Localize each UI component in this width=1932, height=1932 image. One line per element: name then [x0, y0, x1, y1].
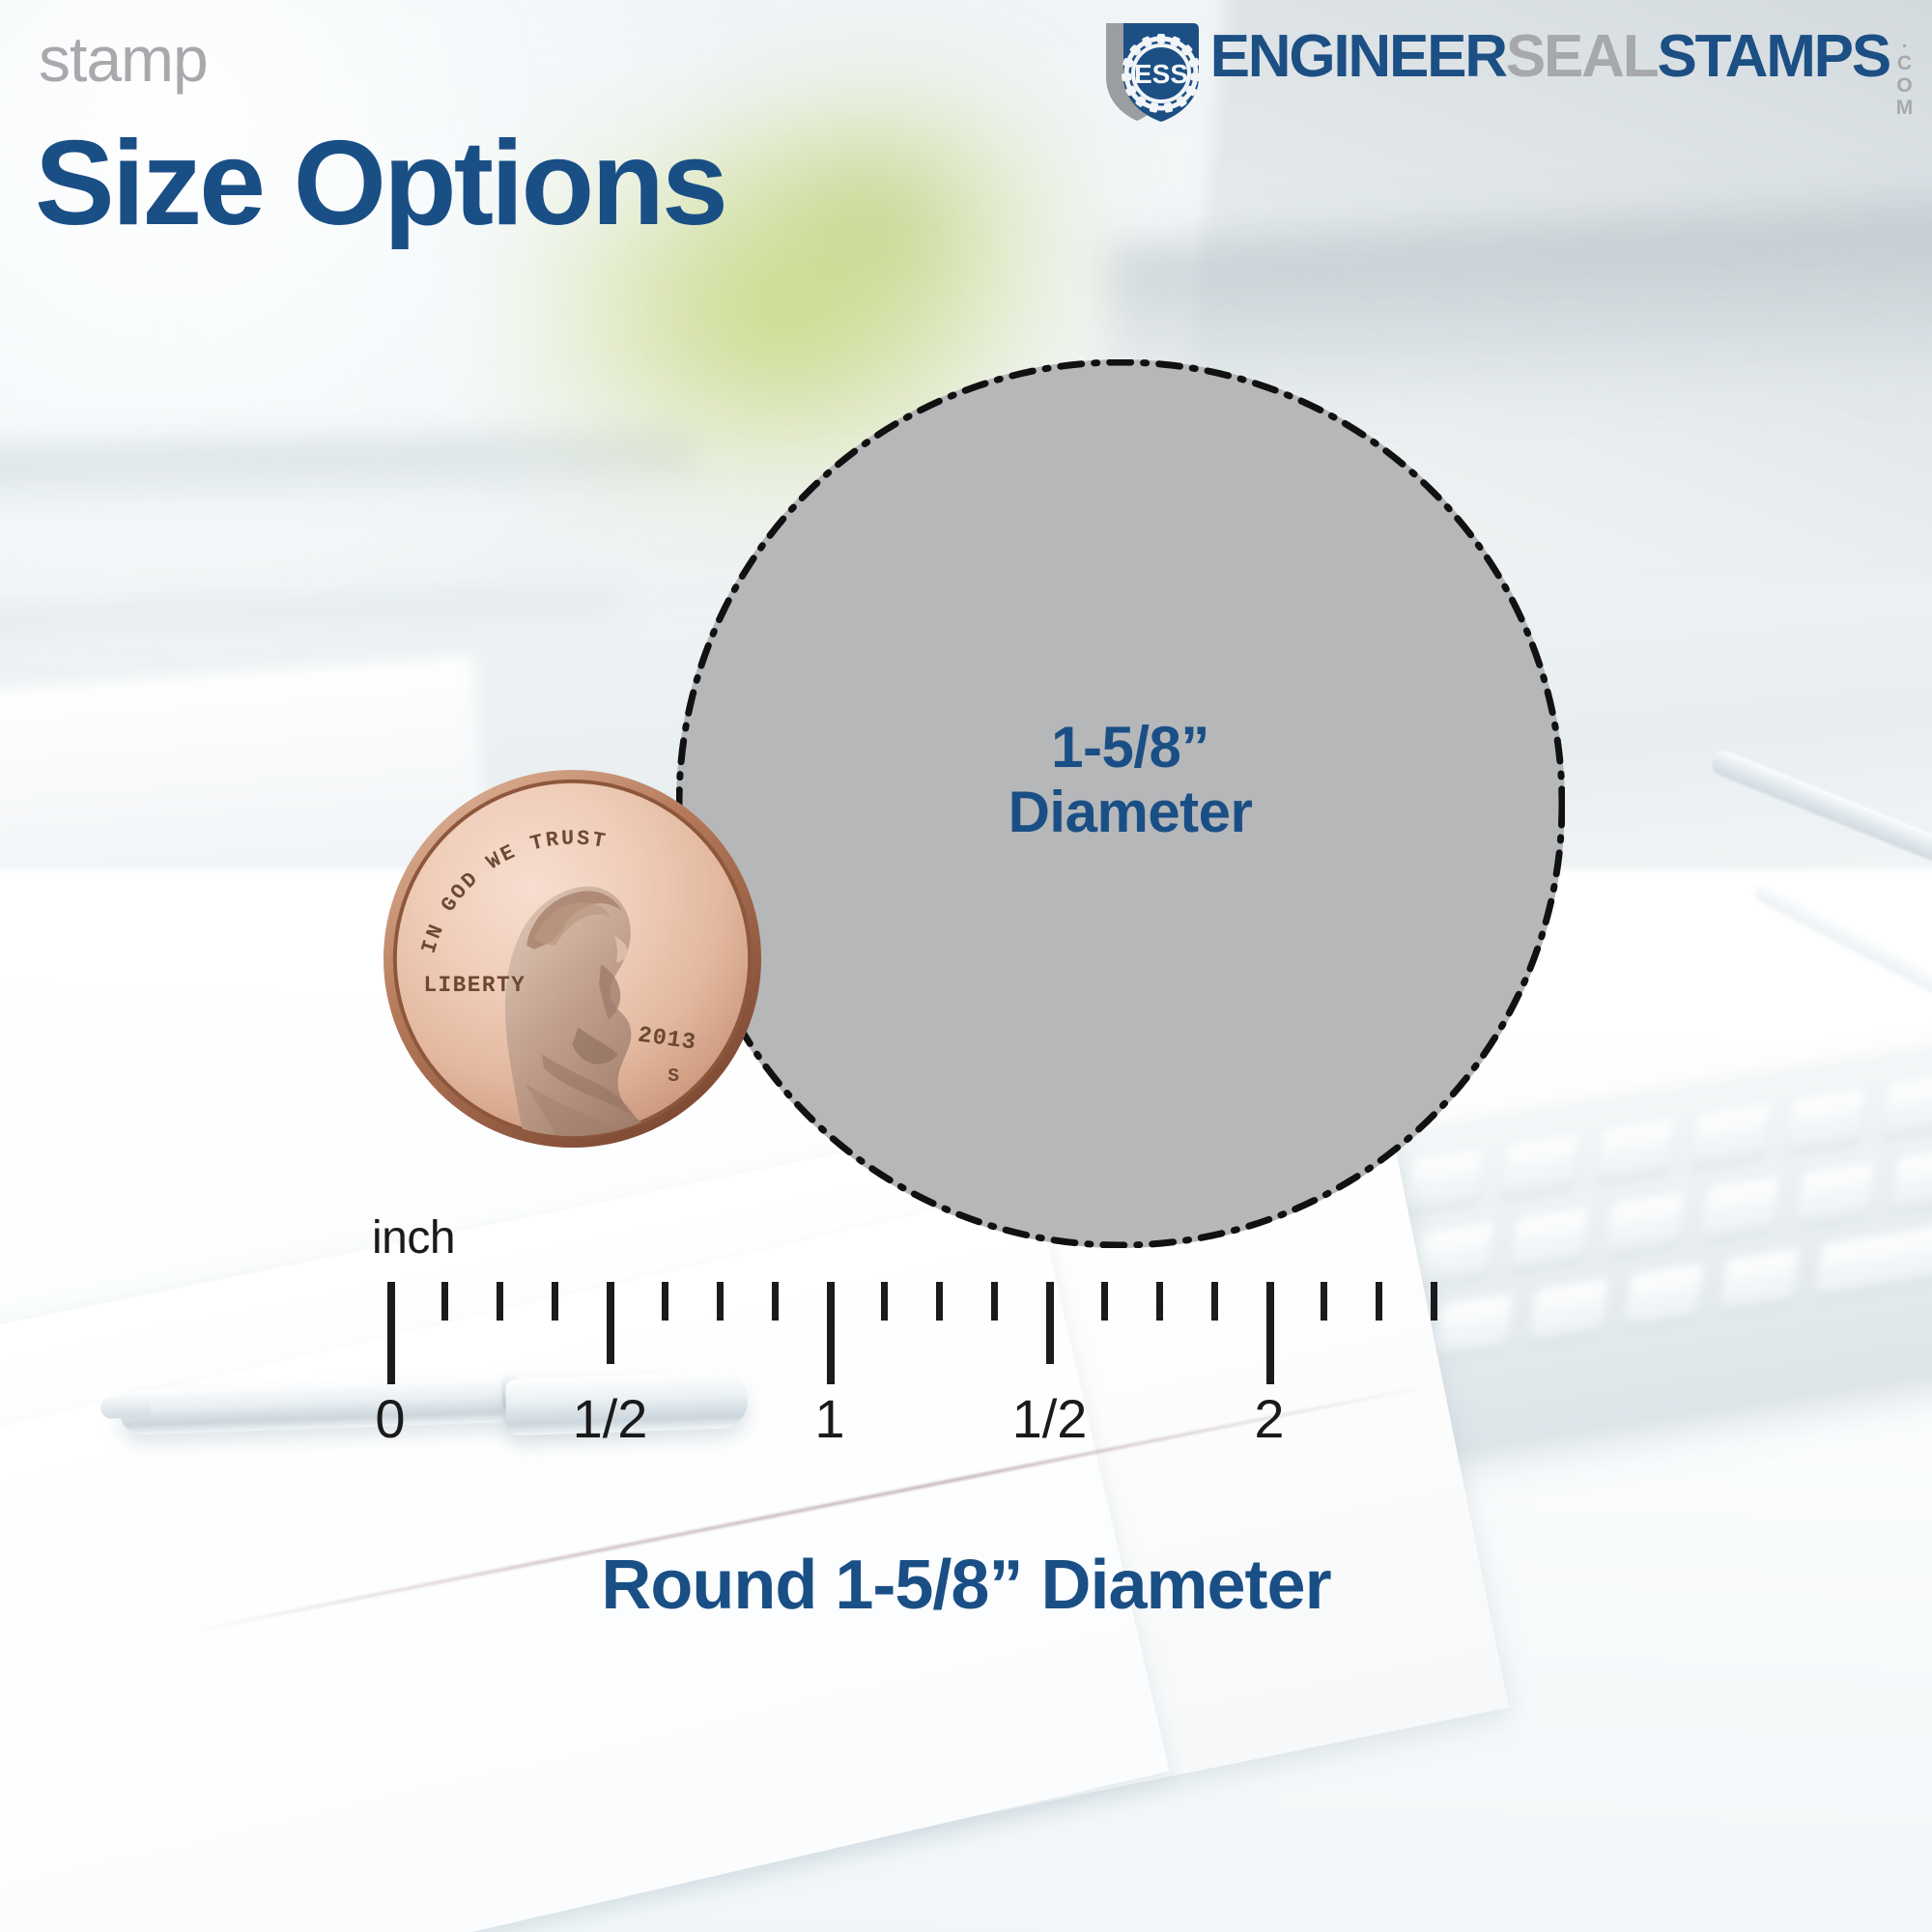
ruler-tick: [1211, 1282, 1218, 1321]
ruler-tick: [387, 1282, 395, 1384]
ess-shield-icon: ESS: [1098, 17, 1207, 126]
ruler-tick: [497, 1282, 503, 1321]
ruler-tick: [441, 1282, 448, 1321]
ruler-unit-label: inch: [372, 1211, 455, 1264]
size-preview-label-line2: Diameter: [908, 780, 1352, 844]
ruler-tick: [772, 1282, 779, 1321]
svg-text:ESS: ESS: [1134, 59, 1188, 89]
ruler-tick: [1046, 1282, 1054, 1364]
wordmark-stamps: STAMPS: [1657, 27, 1889, 87]
ruler-tick: [1321, 1282, 1327, 1321]
background-plant-highlight: [676, 58, 1082, 377]
ruler-label: 1: [814, 1387, 844, 1450]
ruler-tick: [662, 1282, 668, 1321]
ruler-tick: [717, 1282, 724, 1321]
size-caption: Round 1-5/8” Diameter: [0, 1546, 1932, 1625]
ruler-tick: [991, 1282, 998, 1321]
ruler-tick: [1156, 1282, 1163, 1321]
ruler-label: 1/2: [573, 1387, 648, 1450]
ruler: inch 01/211/22: [0, 1198, 1932, 1507]
ruler-tick: [1101, 1282, 1108, 1321]
page-title: Size Options: [35, 124, 725, 243]
wordmark-engineer: ENGINEER: [1210, 27, 1506, 87]
wordmark-com: .COM: [1894, 30, 1915, 119]
coin-liberty: LIBERTY: [423, 973, 526, 998]
ruler-label: 2: [1254, 1387, 1284, 1450]
ruler-tick: [552, 1282, 558, 1321]
size-options-graphic: stamp Size Options: [0, 0, 1932, 1932]
ruler-tick: [1266, 1282, 1274, 1384]
ruler-tick: [936, 1282, 943, 1321]
penny-coin: IN GOD WE TRUST LIBERTY 2013 S: [382, 768, 763, 1150]
coin-mint-mark: S: [668, 1065, 679, 1087]
eyebrow-label: stamp: [39, 27, 208, 91]
ruler-tick: [881, 1282, 888, 1321]
brand-wordmark: ENGINEERSEALSTAMPS.COM: [1210, 27, 1915, 116]
size-preview-label: 1-5/8” Diameter: [908, 715, 1352, 844]
ruler-label: 1/2: [1012, 1387, 1088, 1450]
ruler-tick: [827, 1282, 835, 1384]
ruler-tick: [607, 1282, 614, 1364]
brand-logo[interactable]: ESS ENGINEERSEALSTAMPS.COM: [1098, 17, 1915, 126]
ruler-tick: [1376, 1282, 1382, 1321]
ruler-label: 0: [375, 1387, 405, 1450]
wordmark-seal: SEAL: [1506, 27, 1658, 87]
ruler-tick: [1431, 1282, 1437, 1321]
size-preview-label-line1: 1-5/8”: [908, 715, 1352, 780]
